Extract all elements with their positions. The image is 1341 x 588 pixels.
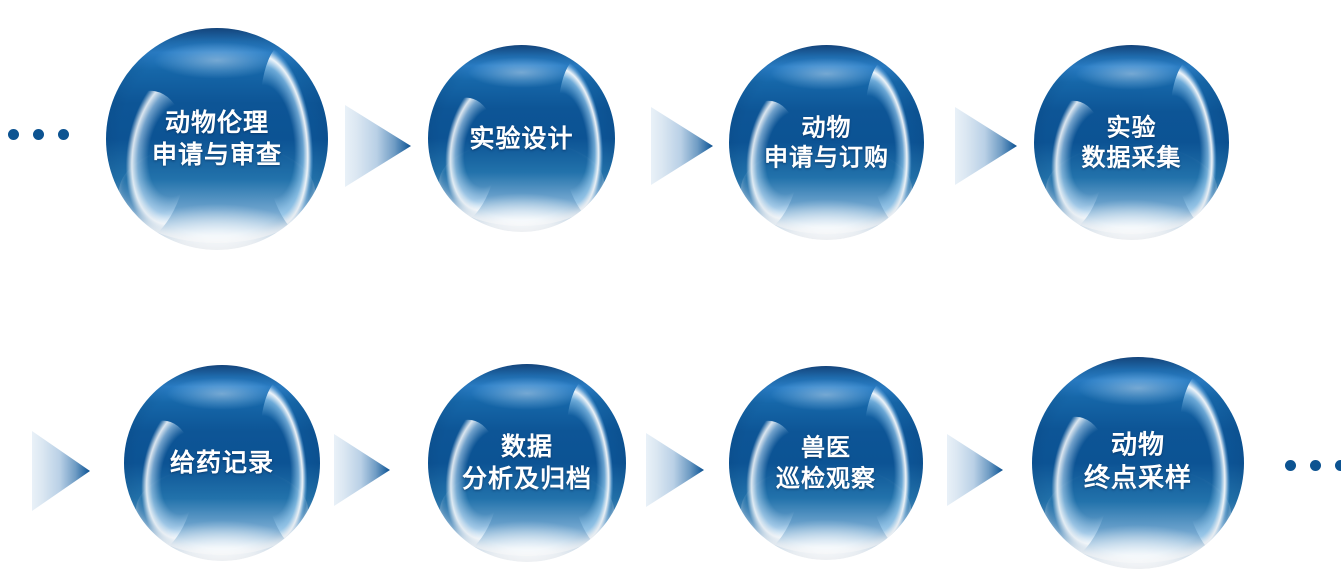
label-line: 动物: [1038, 430, 1238, 463]
process-node-label: 动物 终点采样: [1032, 430, 1244, 497]
ellipsis-dot: [58, 129, 69, 140]
ellipsis-dot: [1335, 460, 1341, 471]
sphere-top-specular: [133, 31, 302, 80]
sphere-top-specular: [1057, 360, 1218, 407]
process-node-dosing-record[interactable]: 给药记录: [124, 365, 320, 561]
label-line: 分析及归档: [434, 463, 620, 495]
ellipsis-dot: [1310, 460, 1321, 471]
sphere-top-specular: [1057, 48, 1205, 91]
process-node-animal-endpoint-sampling[interactable]: 动物 终点采样: [1032, 357, 1244, 569]
process-node-label: 动物伦理 申请与审查: [106, 107, 328, 171]
arrow-row1-to-node5: [32, 431, 90, 511]
process-node-experiment-data-collection[interactable]: 实验 数据采集: [1034, 45, 1229, 240]
label-line: 实验设计: [434, 123, 609, 155]
sphere-top-specular: [752, 48, 900, 91]
flow-diagram: 动物伦理 申请与审查 实验设计 动物 申请与订购: [0, 0, 1341, 588]
ellipsis-dot: [8, 129, 19, 140]
arrow-node1-to-node2: [345, 105, 411, 187]
label-line: 终点采样: [1038, 463, 1238, 496]
process-node-label: 兽医 巡检观察: [729, 432, 923, 493]
sphere-top-specular: [148, 368, 297, 411]
sphere-top-specular: [450, 48, 592, 89]
sphere-top-specular: [452, 367, 602, 411]
trailing-ellipsis: [1285, 460, 1341, 471]
ellipsis-dot: [1285, 460, 1296, 471]
process-node-label: 给药记录: [124, 447, 320, 479]
arrow-node2-to-node3: [651, 107, 713, 185]
label-line: 数据采集: [1040, 143, 1223, 174]
sphere-top-specular: [752, 369, 899, 412]
label-line: 动物伦理: [112, 107, 322, 139]
process-node-animal-application-order[interactable]: 动物 申请与订购: [729, 45, 924, 240]
process-node-animal-ethics-review[interactable]: 动物伦理 申请与审查: [106, 28, 328, 250]
sphere-left-rim-highlight: [428, 92, 506, 232]
arrow-node7-to-node8: [947, 434, 1003, 506]
arrow-node3-to-node4: [955, 107, 1017, 185]
label-line: 申请与订购: [735, 143, 918, 174]
process-node-label: 实验 数据采集: [1034, 112, 1229, 173]
process-node-experiment-design[interactable]: 实验设计: [428, 45, 615, 232]
arrow-node5-to-node6: [334, 434, 390, 506]
process-node-label: 数据 分析及归档: [428, 431, 626, 495]
process-node-vet-inspection[interactable]: 兽医 巡检观察: [729, 366, 923, 560]
label-line: 申请与审查: [112, 139, 322, 171]
label-line: 数据: [434, 431, 620, 463]
label-line: 实验: [1040, 112, 1223, 143]
leading-ellipsis: [8, 129, 69, 140]
label-line: 巡检观察: [735, 463, 917, 494]
ellipsis-dot: [33, 129, 44, 140]
process-node-data-analysis-archive[interactable]: 数据 分析及归档: [428, 364, 626, 562]
process-node-label: 动物 申请与订购: [729, 112, 924, 173]
label-line: 给药记录: [130, 447, 314, 479]
label-line: 兽医: [735, 432, 917, 463]
sphere-left-rim-highlight: [124, 414, 206, 561]
process-node-label: 实验设计: [428, 123, 615, 155]
label-line: 动物: [735, 112, 918, 143]
arrow-node6-to-node7: [646, 433, 704, 507]
